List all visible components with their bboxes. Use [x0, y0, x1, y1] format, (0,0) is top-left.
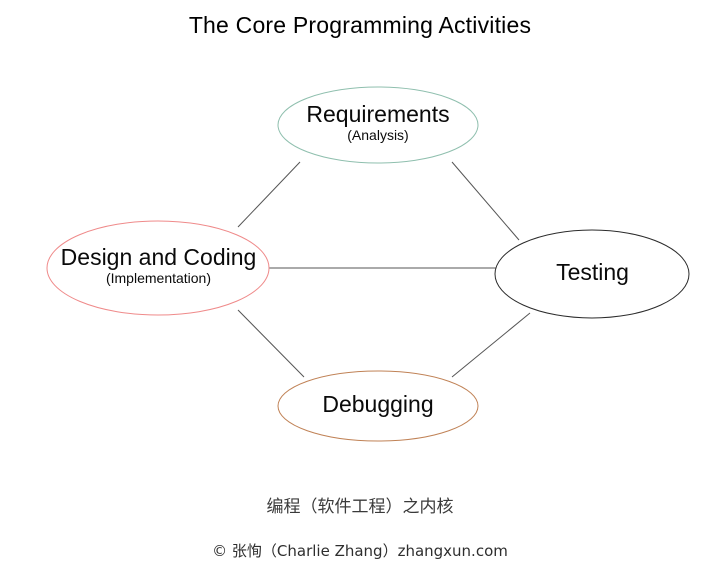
- connector-design-to-requirements: [238, 162, 300, 227]
- node-ellipses: [47, 87, 689, 441]
- connector-design-to-debugging: [238, 310, 304, 377]
- connector-requirements-to-testing: [452, 162, 519, 240]
- diagram-svg: [0, 0, 720, 575]
- connection-lines: [238, 162, 530, 377]
- ellipse-design[interactable]: [47, 221, 269, 315]
- caption-chinese: 编程（软件工程）之内核: [0, 492, 720, 517]
- ellipse-debugging[interactable]: [278, 371, 478, 441]
- diagram-canvas: The Core Programming Activities Requirem…: [0, 0, 720, 575]
- ellipse-testing[interactable]: [495, 230, 689, 318]
- ellipse-requirements[interactable]: [278, 87, 478, 163]
- caption-credit: © 张恂（Charlie Zhang）zhangxun.com: [0, 540, 720, 561]
- connector-testing-to-debugging: [452, 313, 530, 377]
